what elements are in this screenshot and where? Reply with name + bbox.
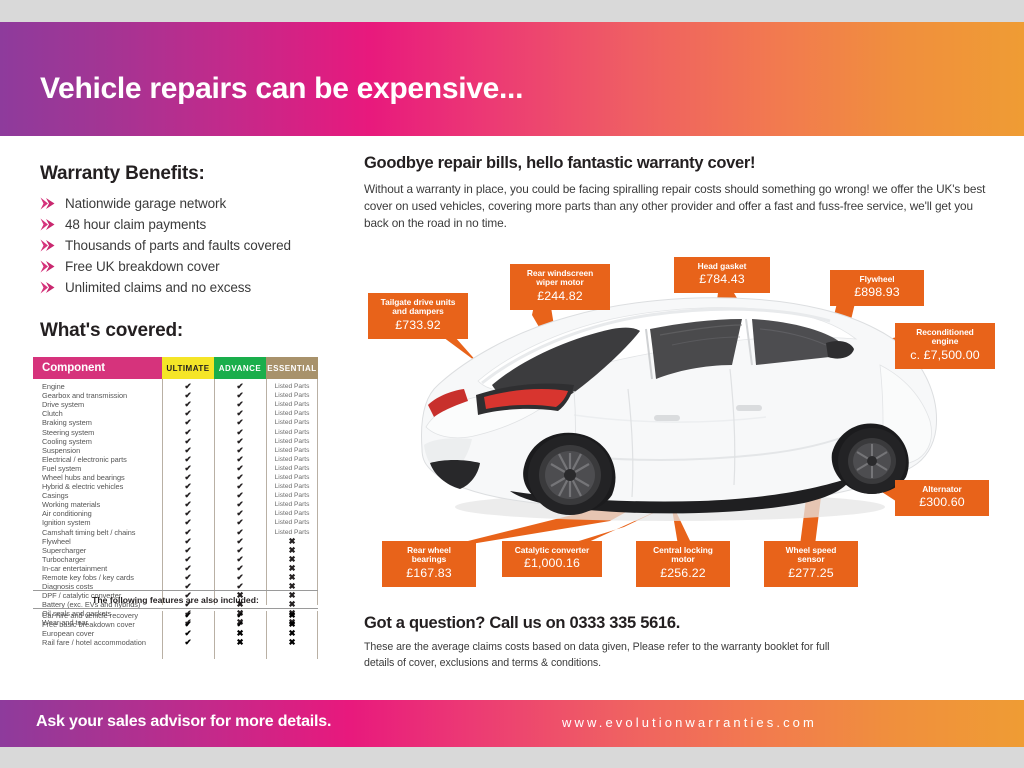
- listed-parts-label: Listed Parts: [266, 519, 318, 526]
- listed-parts-label: Listed Parts: [266, 529, 318, 536]
- callout-amount: £898.93: [838, 286, 916, 300]
- callout-central-locking-motor: Central locking motor £256.22: [636, 541, 730, 587]
- column-header-advance: ADVANCE: [214, 357, 266, 379]
- component-name: Fuel system: [33, 464, 162, 473]
- listed-parts-label: Listed Parts: [266, 465, 318, 472]
- table-divider: [317, 611, 318, 659]
- benefit-item-0: Nationwide garage network: [40, 196, 226, 211]
- component-name: Camshaft timing belt / chains: [33, 528, 162, 537]
- component-name: Casings: [33, 491, 162, 500]
- question-title: Got a question? Call us on 0333 335 5616…: [364, 614, 680, 633]
- feature-name: Rail fare / hotel accommodation: [33, 638, 162, 647]
- page-title: Vehicle repairs can be expensive...: [40, 72, 523, 106]
- callout-label: Catalytic converter: [510, 546, 594, 555]
- listed-parts-label: Listed Parts: [266, 410, 318, 417]
- table-divider: [214, 379, 215, 605]
- component-name: Supercharger: [33, 546, 162, 555]
- listed-parts-label: Listed Parts: [266, 492, 318, 499]
- benefit-label: Free UK breakdown cover: [65, 259, 220, 274]
- callout-rear-wheel-bearings: Rear wheel bearings £167.83: [382, 541, 476, 587]
- divider: [33, 608, 318, 609]
- table-divider: [317, 379, 318, 605]
- cross-icon: ✖: [266, 637, 318, 648]
- header-banner: Vehicle repairs can be expensive...: [0, 22, 1024, 136]
- callout-label: Reconditioned engine: [903, 328, 987, 347]
- listed-parts-label: Listed Parts: [266, 483, 318, 490]
- callout-head-gasket: Head gasket £784.43: [674, 257, 770, 293]
- benefit-item-3: Free UK breakdown cover: [40, 259, 220, 274]
- benefit-label: 48 hour claim payments: [65, 217, 206, 232]
- callout-amount: £167.83: [390, 567, 468, 581]
- table-divider: [266, 379, 267, 605]
- callout-label: Flywheel: [838, 275, 916, 284]
- component-name: Hybrid & electric vehicles: [33, 482, 162, 491]
- chevron-right-icon: [40, 197, 55, 210]
- also-included-separator: The following features are also included…: [33, 590, 318, 609]
- callout-reconditioned-engine: Reconditioned engine c. £7,500.00: [895, 323, 995, 369]
- column-header-ultimate: ULTIMATE: [162, 357, 214, 379]
- callout-catalytic-converter: Catalytic converter £1,000.16: [502, 541, 602, 577]
- feature-name: Car hire and vehicle recovery: [33, 611, 162, 620]
- benefit-item-4: Unlimited claims and no excess: [40, 280, 251, 295]
- table-divider: [266, 611, 267, 659]
- component-name: Engine: [33, 382, 162, 391]
- component-name: Drive system: [33, 400, 162, 409]
- benefit-label: Unlimited claims and no excess: [65, 280, 251, 295]
- table-divider: [162, 611, 163, 659]
- callout-label: Rear wheel bearings: [390, 546, 468, 565]
- callout-amount: £1,000.16: [510, 557, 594, 571]
- benefit-label: Nationwide garage network: [65, 196, 226, 211]
- component-name: Turbocharger: [33, 555, 162, 564]
- car-illustration: [422, 298, 937, 521]
- listed-parts-label: Listed Parts: [266, 438, 318, 445]
- car-diagram: Tailgate drive units and dampers £733.92…: [360, 245, 1010, 595]
- callout-amount: £277.25: [772, 567, 850, 581]
- callout-amount: c. £7,500.00: [903, 349, 987, 363]
- component-name: Electrical / electronic parts: [33, 455, 162, 464]
- callout-amount: £256.22: [644, 567, 722, 581]
- listed-parts-label: Listed Parts: [266, 392, 318, 399]
- component-name: Wheel hubs and bearings: [33, 473, 162, 482]
- chevron-right-icon: [40, 281, 55, 294]
- callout-rear-windscreen-wiper-motor: Rear windscreen wiper motor £244.82: [510, 264, 610, 310]
- callout-label: Central locking motor: [644, 546, 722, 565]
- component-name: Gearbox and transmission: [33, 391, 162, 400]
- table-divider: [214, 611, 215, 659]
- listed-parts-label: Listed Parts: [266, 447, 318, 454]
- component-name: Remote key fobs / key cards: [33, 573, 162, 582]
- component-name: Flywheel: [33, 537, 162, 546]
- also-included-title: The following features are also included…: [33, 595, 318, 605]
- feature-name: European cover: [33, 629, 162, 638]
- listed-parts-label: Listed Parts: [266, 401, 318, 408]
- footer-website-url[interactable]: www.evolutionwarranties.com: [562, 715, 817, 730]
- cross-icon: ✖: [214, 637, 266, 648]
- component-name: Braking system: [33, 418, 162, 427]
- divider: [33, 590, 318, 591]
- benefit-item-2: Thousands of parts and faults covered: [40, 238, 291, 253]
- callout-flywheel: Flywheel £898.93: [830, 270, 924, 306]
- listed-parts-label: Listed Parts: [266, 501, 318, 508]
- callout-label: Head gasket: [682, 262, 762, 271]
- callout-wheel-speed-sensor: Wheel speed sensor £277.25: [764, 541, 858, 587]
- feature-name: Free basic breakdown cover: [33, 620, 162, 629]
- covered-heading: What's covered:: [40, 320, 183, 342]
- check-icon: ✔: [162, 637, 214, 648]
- right-headline: Goodbye repair bills, hello fantastic wa…: [364, 154, 755, 173]
- callout-amount: £784.43: [682, 273, 762, 287]
- footer-banner: Ask your sales advisor for more details.…: [0, 700, 1024, 747]
- benefit-label: Thousands of parts and faults covered: [65, 238, 291, 253]
- chevron-right-icon: [40, 239, 55, 252]
- table-divider: [162, 379, 163, 605]
- right-paragraph: Without a warranty in place, you could b…: [364, 181, 996, 231]
- benefits-heading: Warranty Benefits:: [40, 163, 205, 185]
- callout-amount: £244.82: [518, 290, 602, 304]
- callout-amount: £300.60: [903, 496, 981, 510]
- component-name: Clutch: [33, 409, 162, 418]
- listed-parts-label: Listed Parts: [266, 429, 318, 436]
- callout-label: Wheel speed sensor: [772, 546, 850, 565]
- callout-label: Rear windscreen wiper motor: [518, 269, 602, 288]
- component-name: In-car entertainment: [33, 564, 162, 573]
- component-name: Ignition system: [33, 518, 162, 527]
- callout-label: Alternator: [903, 485, 981, 494]
- table-header-row: Component ULTIMATE ADVANCE ESSENTIAL: [33, 357, 318, 379]
- table-row: Rail fare / hotel accommodation✔✖✖: [33, 638, 318, 647]
- listed-parts-label: Listed Parts: [266, 419, 318, 426]
- component-name: Suspension: [33, 446, 162, 455]
- component-name: Cooling system: [33, 437, 162, 446]
- callout-alternator: Alternator £300.60: [895, 480, 989, 516]
- component-name: Steering system: [33, 428, 162, 437]
- benefit-item-1: 48 hour claim payments: [40, 217, 206, 232]
- chevron-right-icon: [40, 260, 55, 273]
- infographic-page: Vehicle repairs can be expensive... Warr…: [0, 0, 1024, 768]
- question-note: These are the average claims costs based…: [364, 640, 834, 672]
- column-header-essential: ESSENTIAL: [266, 357, 318, 379]
- chevron-right-icon: [40, 218, 55, 231]
- callout-tailgate-drive-units: Tailgate drive units and dampers £733.92: [368, 293, 468, 339]
- callout-label: Tailgate drive units and dampers: [376, 298, 460, 317]
- component-name: Working materials: [33, 500, 162, 509]
- also-included-body: Car hire and vehicle recovery✔✔✖Free bas…: [33, 611, 318, 647]
- listed-parts-label: Listed Parts: [266, 474, 318, 481]
- component-name: Air conditioning: [33, 509, 162, 518]
- callout-amount: £733.92: [376, 319, 460, 333]
- listed-parts-label: Listed Parts: [266, 383, 318, 390]
- listed-parts-label: Listed Parts: [266, 456, 318, 463]
- listed-parts-label: Listed Parts: [266, 510, 318, 517]
- footer-cta-text: Ask your sales advisor for more details.: [36, 713, 331, 731]
- column-header-component: Component: [33, 357, 162, 379]
